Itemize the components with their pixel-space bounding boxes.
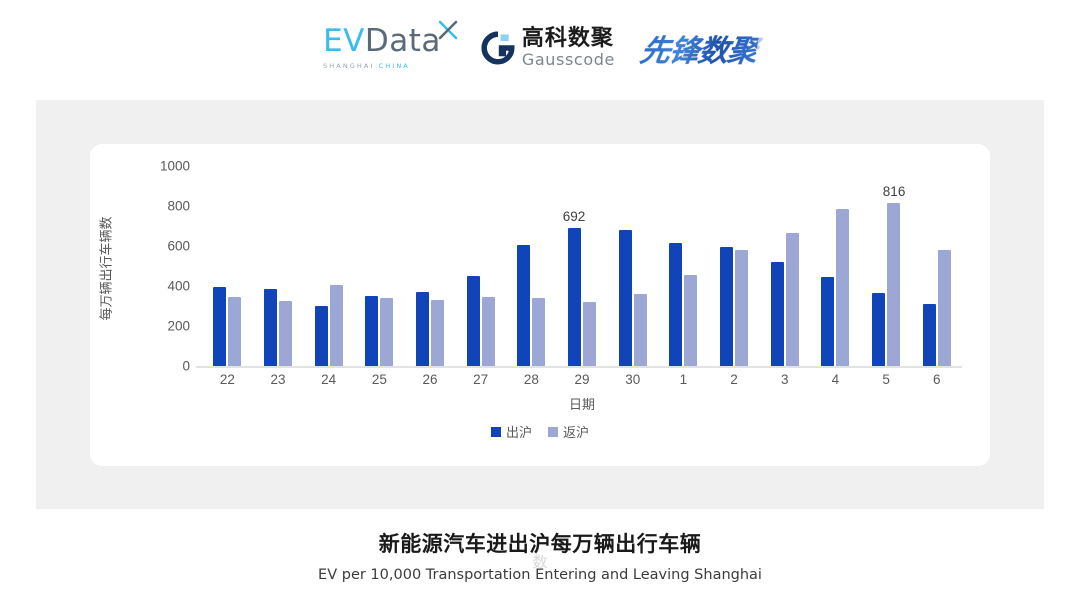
legend-item[interactable]: 返沪 — [548, 422, 589, 441]
x-axis-tick-label: 4 — [810, 372, 861, 387]
bar-group — [911, 166, 962, 366]
gausscode-cn-text: 高科数聚 — [522, 28, 615, 50]
x-axis-tick-label: 24 — [303, 372, 354, 387]
x-axis-title: 日期 — [202, 394, 962, 413]
x-axis-labels: 222324252627282930123456 — [202, 372, 962, 387]
bar-出沪[interactable] — [872, 293, 885, 366]
chart-card: 每万辆出行车辆数 02004006008001000 692816 222324… — [90, 144, 990, 466]
legend-label: 出沪 — [506, 422, 532, 441]
evdata-city-text: SHANGHAI — [323, 62, 374, 70]
evdata-wordmark: EVData — [323, 26, 441, 57]
plot-area: 692816 — [202, 166, 962, 366]
legend-swatch — [491, 427, 501, 437]
bar-group — [405, 166, 456, 366]
y-axis-title: 每万辆出行车辆数 — [96, 166, 114, 371]
xianfeng-logo: 先锋数聚 — [637, 26, 760, 70]
x-mark-icon — [437, 19, 459, 41]
bar-value-label: 816 — [883, 184, 906, 199]
y-axis-tick: 600 — [167, 239, 190, 254]
x-axis-tick-label: 25 — [354, 372, 405, 387]
y-axis-tick: 800 — [167, 199, 190, 214]
chart-legend: 出沪返沪 — [90, 422, 990, 441]
bar-返沪[interactable] — [684, 275, 697, 366]
bar-group: 692 — [557, 166, 608, 366]
y-axis-tick: 0 — [182, 359, 190, 374]
caption-block: 新能源汽车进出沪每万辆出行车辆 EV per 10,000 Transporta… — [0, 528, 1080, 583]
chart-panel: 每万辆出行车辆数 02004006008001000 692816 222324… — [36, 100, 1044, 509]
x-axis-tick-label: 27 — [455, 372, 506, 387]
bar-group — [303, 166, 354, 366]
bar-出沪[interactable] — [923, 304, 936, 366]
gausscode-mark-icon — [481, 31, 515, 65]
bar-出沪[interactable] — [416, 292, 429, 366]
bar-返沪[interactable] — [532, 298, 545, 366]
bar-group — [354, 166, 405, 366]
bar-返沪[interactable] — [634, 294, 647, 366]
bar-group — [455, 166, 506, 366]
bar-出沪[interactable] — [568, 228, 581, 366]
bar-返沪[interactable] — [279, 301, 292, 366]
bar-返沪[interactable] — [836, 209, 849, 366]
bar-返沪[interactable] — [786, 233, 799, 366]
evdata-tagline: SHANGHAI CHINA — [323, 62, 410, 70]
bar-返沪[interactable] — [938, 250, 951, 366]
bar-出沪[interactable] — [619, 230, 632, 366]
gausscode-en-text: Gausscode — [522, 52, 615, 68]
x-axis-line — [196, 366, 962, 368]
legend-label: 返沪 — [563, 422, 589, 441]
legend-swatch — [548, 427, 558, 437]
evdata-country-text: CHINA — [379, 62, 410, 70]
x-axis-tick-label: 22 — [202, 372, 253, 387]
bar-返沪[interactable] — [735, 250, 748, 366]
bar-返沪[interactable] — [583, 302, 596, 366]
x-axis-tick-label: 26 — [405, 372, 456, 387]
bar-出沪[interactable] — [365, 296, 378, 366]
bar-group — [607, 166, 658, 366]
x-axis-tick-label: 3 — [759, 372, 810, 387]
x-axis-tick-label: 30 — [607, 372, 658, 387]
bar-groups: 692816 — [202, 166, 962, 366]
x-axis-tick-label: 23 — [253, 372, 304, 387]
bar-返沪[interactable] — [431, 300, 444, 366]
y-axis-ticks: 02004006008001000 — [134, 166, 196, 366]
bar-返沪[interactable] — [330, 285, 343, 366]
x-axis-tick-label: 5 — [861, 372, 912, 387]
x-axis-tick-label: 2 — [709, 372, 760, 387]
y-axis-tick: 200 — [167, 319, 190, 334]
bar-group — [810, 166, 861, 366]
bar-group — [709, 166, 760, 366]
bar-group — [253, 166, 304, 366]
bar-group: 816 — [861, 166, 912, 366]
evdata-logo: EVData SHANGHAI CHINA — [323, 26, 455, 70]
x-axis-tick-label: 1 — [658, 372, 709, 387]
bar-出沪[interactable] — [669, 243, 682, 366]
x-axis-tick-label: 29 — [557, 372, 608, 387]
logo-bar: EVData SHANGHAI CHINA 高科数聚 Gausscode 先锋数… — [0, 0, 1080, 96]
bar-出沪[interactable] — [821, 277, 834, 366]
legend-item[interactable]: 出沪 — [491, 422, 532, 441]
bar-group — [506, 166, 557, 366]
bar-返沪[interactable] — [887, 203, 900, 366]
bar-出沪[interactable] — [467, 276, 480, 366]
bar-group — [202, 166, 253, 366]
bar-出沪[interactable] — [720, 247, 733, 366]
bar-出沪[interactable] — [213, 287, 226, 366]
bar-value-label: 692 — [563, 209, 586, 224]
bar-group — [759, 166, 810, 366]
bar-返沪[interactable] — [482, 297, 495, 366]
x-axis-tick-label: 28 — [506, 372, 557, 387]
y-axis-title-text: 每万辆出行车辆数 — [96, 216, 115, 320]
evdata-data-text: Data — [365, 23, 441, 59]
evdata-ev-text: EV — [323, 23, 365, 59]
bar-出沪[interactable] — [315, 306, 328, 366]
caption-subtitle: EV per 10,000 Transportation Entering an… — [0, 567, 1080, 583]
bar-返沪[interactable] — [228, 297, 241, 366]
y-axis-tick: 1000 — [160, 159, 190, 174]
bar-group — [658, 166, 709, 366]
y-axis-tick: 400 — [167, 279, 190, 294]
bar-出沪[interactable] — [517, 245, 530, 366]
bar-出沪[interactable] — [264, 289, 277, 366]
bar-chart: 每万辆出行车辆数 02004006008001000 692816 222324… — [90, 144, 990, 466]
gausscode-logo: 高科数聚 Gausscode — [481, 28, 615, 68]
x-axis-tick-label: 6 — [911, 372, 962, 387]
caption-title: 新能源汽车进出沪每万辆出行车辆 — [0, 528, 1080, 558]
gausscode-text: 高科数聚 Gausscode — [522, 28, 615, 68]
bar-返沪[interactable] — [380, 298, 393, 366]
bar-出沪[interactable] — [771, 262, 784, 366]
